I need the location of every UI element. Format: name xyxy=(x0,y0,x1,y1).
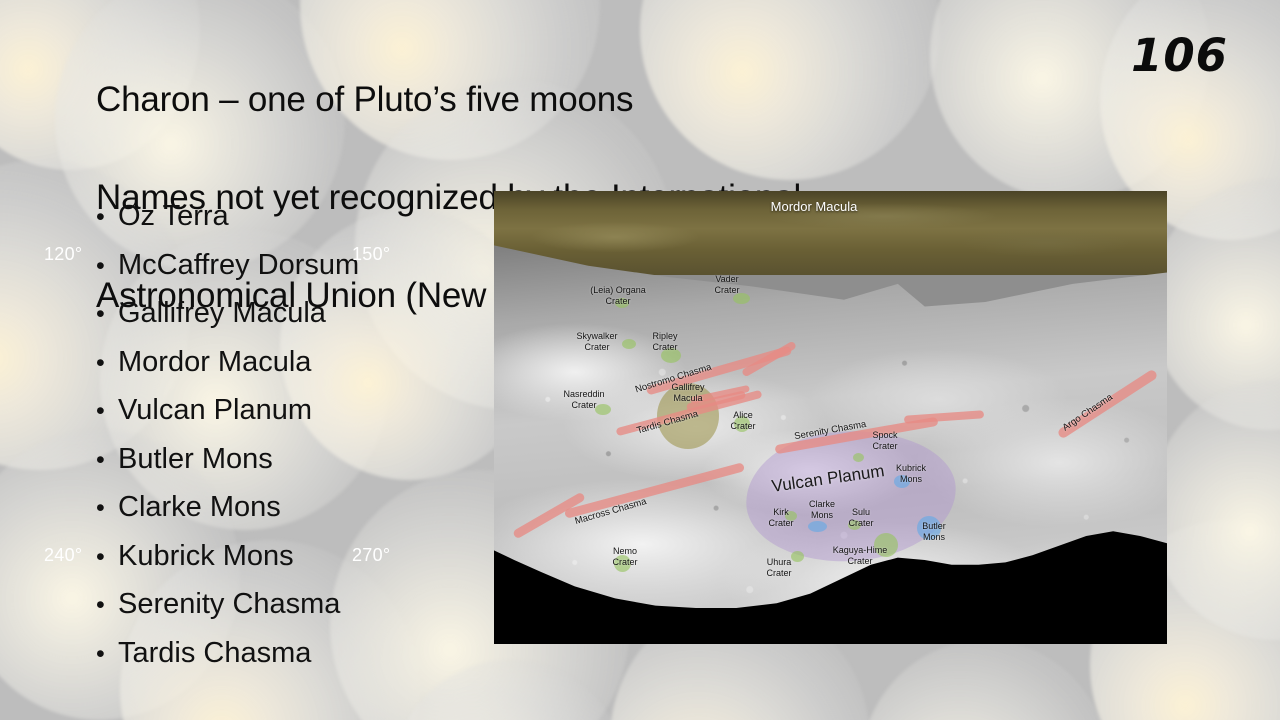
bullet-marker-icon: • xyxy=(96,193,118,242)
list-item: • Gallifrey Macula xyxy=(96,289,496,338)
list-item-label: Vulcan Planum xyxy=(118,386,312,435)
bullet-marker-icon: • xyxy=(96,339,118,388)
map-label-leia-organa-crater: (Leia) Organa Crater xyxy=(562,285,674,306)
feature-name-list: • Oz Terra • McCaffrey Dorsum • Gallifre… xyxy=(96,192,496,677)
list-item-label: Mordor Macula xyxy=(118,338,311,387)
map-label-butler-mons: Butler Mons xyxy=(906,521,962,542)
list-item: • Mordor Macula xyxy=(96,338,496,387)
bullet-marker-icon: • xyxy=(96,581,118,630)
longitude-marker-120: 120° xyxy=(44,244,82,265)
map-label-clarke-mons: Clarke Mons xyxy=(794,499,850,520)
longitude-marker-150: 150° xyxy=(352,244,390,265)
list-item-label: Tardis Chasma xyxy=(118,629,311,678)
clarke-mons-marker xyxy=(808,521,827,532)
list-item-label: Oz Terra xyxy=(118,192,229,241)
map-label-alice-crater: Alice Crater xyxy=(716,410,770,431)
bullet-marker-icon: • xyxy=(96,630,118,679)
list-item: • Clarke Mons xyxy=(96,483,496,532)
list-item-label: Gallifrey Macula xyxy=(118,289,326,338)
map-label-nasreddin-crater: Nasreddin Crater xyxy=(544,389,624,410)
list-item: • Tardis Chasma xyxy=(96,629,496,678)
map-label-nemo-crater: Nemo Crater xyxy=(598,546,652,567)
bullet-marker-icon: • xyxy=(96,290,118,339)
map-inner: Mordor Macula Vulcan Planum Gallifrey Ma… xyxy=(494,191,1167,644)
longitude-marker-270: 270° xyxy=(352,545,390,566)
map-label-skywalker-crater: Skywalker Crater xyxy=(558,331,636,352)
bullet-marker-icon: • xyxy=(96,533,118,582)
map-label-uhura-crater: Uhura Crater xyxy=(752,557,806,578)
list-item: • Oz Terra xyxy=(96,192,496,241)
list-item: • McCaffrey Dorsum xyxy=(96,241,496,290)
list-item: • Vulcan Planum xyxy=(96,386,496,435)
map-label-ripley-crater: Ripley Crater xyxy=(634,331,696,352)
longitude-marker-240: 240° xyxy=(44,545,82,566)
map-label-vader-crater: Vader Crater xyxy=(696,274,758,295)
charon-map-image: Mordor Macula Vulcan Planum Gallifrey Ma… xyxy=(494,191,1167,644)
list-item-label: McCaffrey Dorsum xyxy=(118,241,359,290)
bullet-marker-icon: • xyxy=(96,436,118,485)
list-item: • Kubrick Mons xyxy=(96,532,496,581)
list-item-label: Clarke Mons xyxy=(118,483,281,532)
list-item-label: Kubrick Mons xyxy=(118,532,294,581)
list-item: • Serenity Chasma xyxy=(96,580,496,629)
map-label-spock-crater: Spock Crater xyxy=(852,430,918,451)
list-item: • Butler Mons xyxy=(96,435,496,484)
page-number: 106 xyxy=(1131,29,1228,82)
map-label-mordor-macula: Mordor Macula xyxy=(744,199,884,214)
list-item-label: Butler Mons xyxy=(118,435,273,484)
bubble xyxy=(860,640,1110,720)
bullet-marker-icon: • xyxy=(96,484,118,533)
slide-canvas: Charon – one of Pluto’s five moons Names… xyxy=(0,0,1280,720)
bullet-marker-icon: • xyxy=(96,242,118,291)
map-label-kubrick-mons: Kubrick Mons xyxy=(880,463,942,484)
title-line-1: Charon – one of Pluto’s five moons xyxy=(96,75,1056,124)
list-item-label: Serenity Chasma xyxy=(118,580,340,629)
bullet-marker-icon: • xyxy=(96,387,118,436)
spock-crater-marker xyxy=(853,453,864,462)
